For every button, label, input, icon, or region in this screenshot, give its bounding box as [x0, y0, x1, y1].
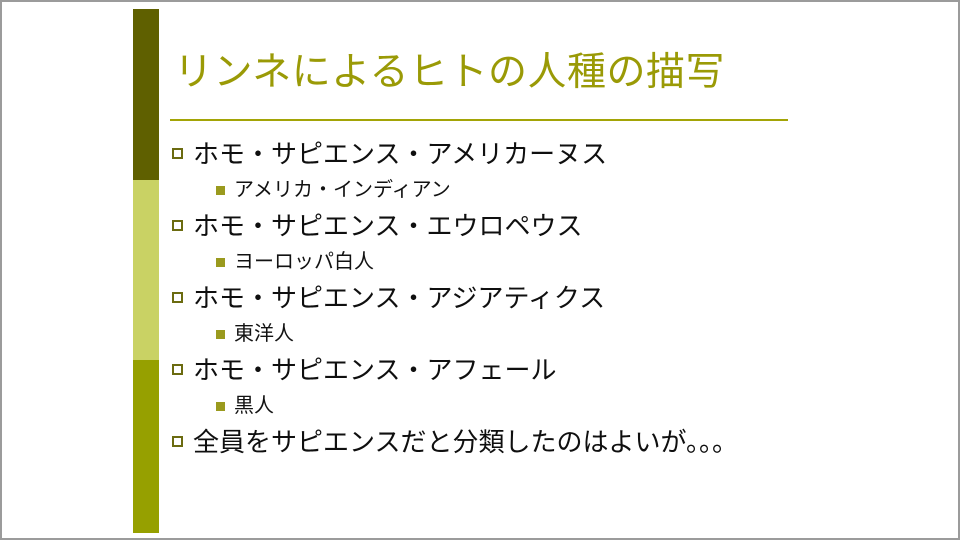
list-item: 黒人: [216, 389, 912, 423]
filled-square-bullet-icon: [216, 186, 225, 195]
list-item-label: 黒人: [234, 389, 274, 423]
slide-accent-bar: [133, 9, 159, 533]
presentation-slide: リンネによるヒトの人種の描写 ホモ・サピエンス・アメリカーヌス アメリカ・インデ…: [0, 0, 960, 540]
list-item-label: ホモ・サピエンス・アジアティクス: [193, 279, 605, 317]
filled-square-bullet-icon: [216, 330, 225, 339]
list-item: ホモ・サピエンス・アフェール: [172, 351, 912, 389]
hollow-square-bullet-icon: [172, 436, 183, 447]
list-item: アメリカ・インディアン: [216, 173, 912, 207]
title-divider-rule: [170, 119, 788, 121]
list-item-label: 東洋人: [234, 317, 294, 351]
hollow-square-bullet-icon: [172, 220, 183, 231]
list-item: ホモ・サピエンス・アメリカーヌス: [172, 135, 912, 173]
list-item-label: アメリカ・インディアン: [234, 173, 451, 207]
list-item: 全員をサピエンスだと分類したのはよいが。。。: [172, 423, 912, 461]
accent-bar-segment-bottom: [133, 360, 159, 533]
hollow-square-bullet-icon: [172, 364, 183, 375]
filled-square-bullet-icon: [216, 258, 225, 267]
hollow-square-bullet-icon: [172, 148, 183, 159]
accent-bar-segment-top: [133, 9, 159, 180]
slide-title: リンネによるヒトの人種の描写: [174, 50, 814, 96]
list-item: ホモ・サピエンス・エウロペウス: [172, 207, 912, 245]
list-item-label: ホモ・サピエンス・アメリカーヌス: [193, 135, 607, 173]
list-item: ヨーロッパ白人: [216, 245, 912, 279]
list-item-label: ヨーロッパ白人: [234, 245, 374, 279]
list-item: ホモ・サピエンス・アジアティクス: [172, 279, 912, 317]
accent-bar-segment-middle: [133, 180, 159, 360]
list-item-label: ホモ・サピエンス・エウロペウス: [193, 207, 582, 245]
list-item: 東洋人: [216, 317, 912, 351]
list-item-label: ホモ・サピエンス・アフェール: [193, 351, 556, 389]
hollow-square-bullet-icon: [172, 292, 183, 303]
list-item-label: 全員をサピエンスだと分類したのはよいが。。。: [193, 423, 738, 461]
slide-bullet-list: ホモ・サピエンス・アメリカーヌス アメリカ・インディアン ホモ・サピエンス・エウ…: [172, 135, 912, 461]
filled-square-bullet-icon: [216, 402, 225, 411]
